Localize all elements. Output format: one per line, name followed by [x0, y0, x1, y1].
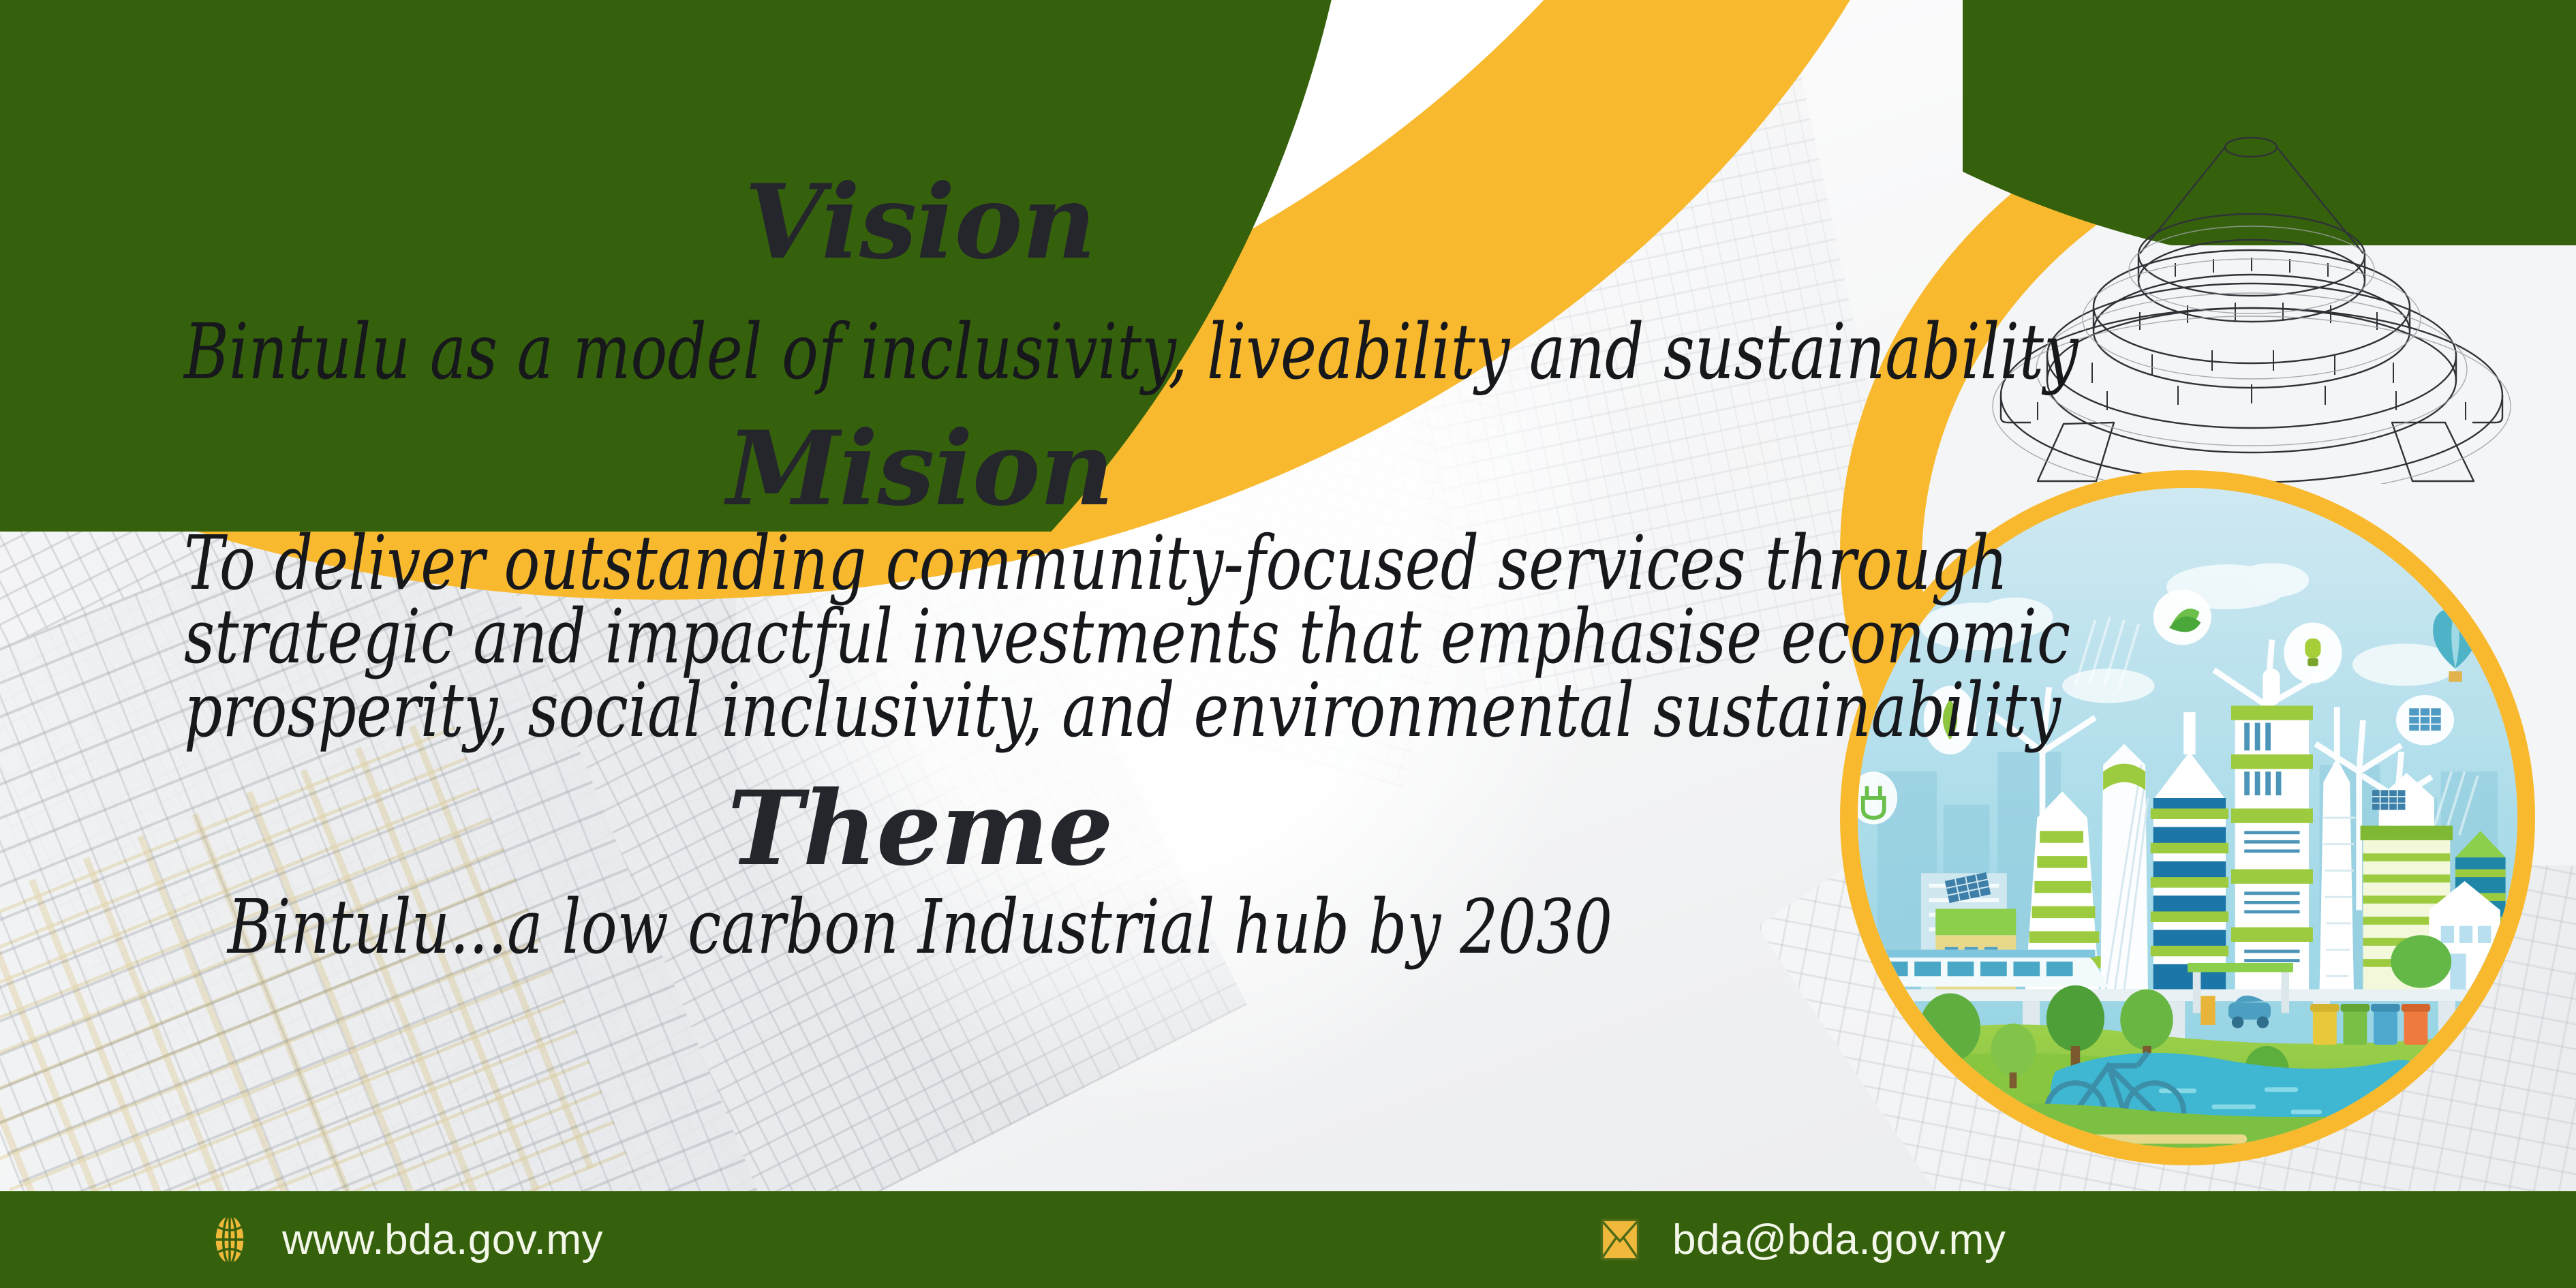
- envelope-icon: [1595, 1214, 1645, 1265]
- email-label[interactable]: bda@bda.gov.my: [1672, 1216, 2006, 1264]
- footer-email[interactable]: bda@bda.gov.my: [1595, 1214, 2006, 1265]
- eco-city-illustration: [1858, 488, 2517, 1148]
- footer-website[interactable]: www.bda.gov.my: [204, 1214, 603, 1265]
- globe-icon: [204, 1214, 255, 1265]
- background-white-vignette: [736, 0, 1758, 1199]
- website-label[interactable]: www.bda.gov.my: [282, 1216, 603, 1264]
- eco-city-medallion: [1840, 470, 2535, 1165]
- footer-bar: www.bda.gov.my bda@bda.gov.my: [0, 1191, 2576, 1288]
- banner-root: Vision Bintulu as a model of inclusivity…: [0, 0, 2576, 1288]
